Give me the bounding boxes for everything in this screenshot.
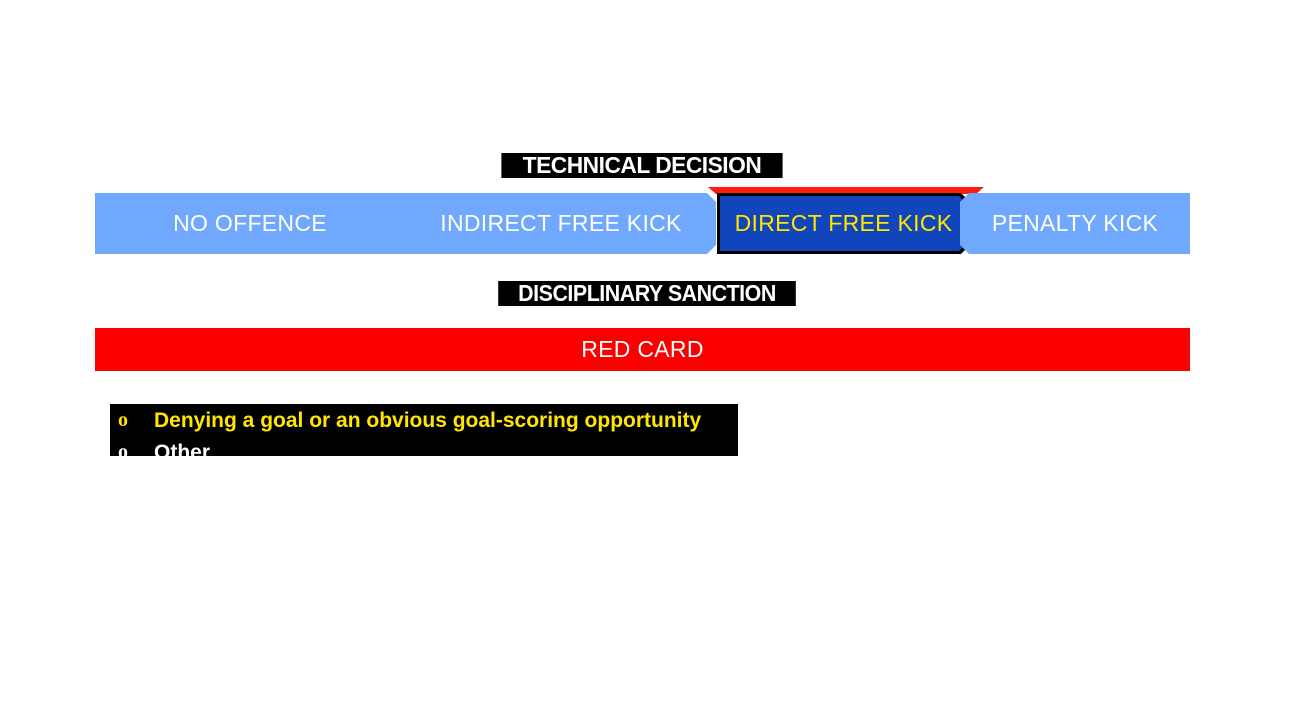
technical-decision-unselected-group: NO OFFENCE INDIRECT FREE KICK [95, 193, 716, 254]
technical-decision-option-direct-free-kick[interactable]: DIRECT FREE KICK [717, 193, 970, 254]
technical-decision-heading: TECHNICAL DECISION [501, 153, 782, 178]
technical-decision-option-penalty-kick[interactable]: PENALTY KICK [960, 193, 1190, 254]
reason-label-denying-goal: Denying a goal or an obvious goal-scorin… [154, 410, 701, 431]
technical-decision-option-direct-free-kick-label: DIRECT FREE KICK [735, 210, 953, 237]
selected-option-fill: DIRECT FREE KICK [720, 196, 967, 251]
list-item[interactable]: o Denying a goal or an obvious goal-scor… [118, 410, 701, 431]
disciplinary-sanction-heading: DISCIPLINARY SANCTION [498, 281, 796, 306]
disciplinary-sanction-red-card-bar[interactable]: RED CARD [95, 328, 1190, 371]
selected-option-marker [708, 187, 984, 194]
reason-label-other: Other [154, 442, 210, 456]
technical-decision-option-bar: NO OFFENCE INDIRECT FREE KICK DIRECT FRE… [95, 193, 1190, 254]
technical-decision-option-indirect-free-kick[interactable]: INDIRECT FREE KICK [406, 193, 716, 254]
bullet-icon: o [118, 442, 154, 456]
disciplinary-reason-list: o Denying a goal or an obvious goal-scor… [110, 404, 738, 456]
list-item[interactable]: o Other [118, 442, 210, 456]
bullet-icon: o [118, 410, 154, 430]
red-card-label: RED CARD [581, 336, 704, 363]
technical-decision-option-no-offence[interactable]: NO OFFENCE [95, 193, 405, 254]
